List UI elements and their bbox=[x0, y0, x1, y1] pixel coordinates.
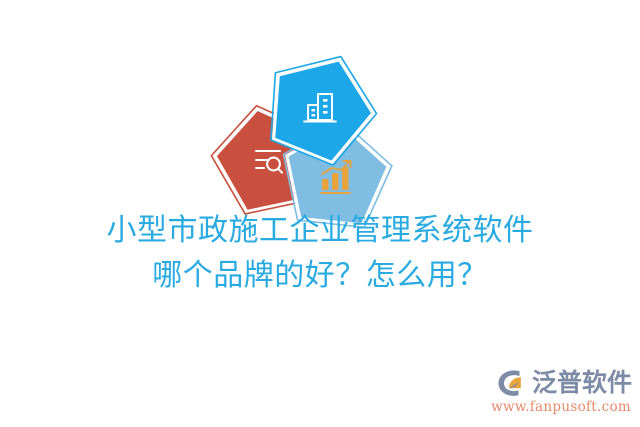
pentagon-cluster-graphic bbox=[208, 52, 388, 222]
brand-wordmark: 泛普软件 bbox=[532, 369, 632, 397]
brand-url: www.fanpusoft.com bbox=[491, 399, 631, 415]
page-title: 小型市政施工企业管理系统软件 哪个品牌的好？怎么用？ bbox=[0, 208, 640, 298]
page-title-line-1: 小型市政施工企业管理系统软件 bbox=[0, 208, 640, 253]
brand-logo-row: 泛普软件 bbox=[495, 368, 632, 398]
banner-canvas: 小型市政施工企业管理系统软件 哪个品牌的好？怎么用？ 泛普软件 www.fanp… bbox=[0, 0, 640, 427]
brand-logo[interactable]: 泛普软件 www.fanpusoft.com bbox=[491, 368, 632, 415]
fanpu-c-mark-icon bbox=[495, 368, 529, 398]
page-title-line-2: 哪个品牌的好？怎么用？ bbox=[0, 253, 640, 298]
